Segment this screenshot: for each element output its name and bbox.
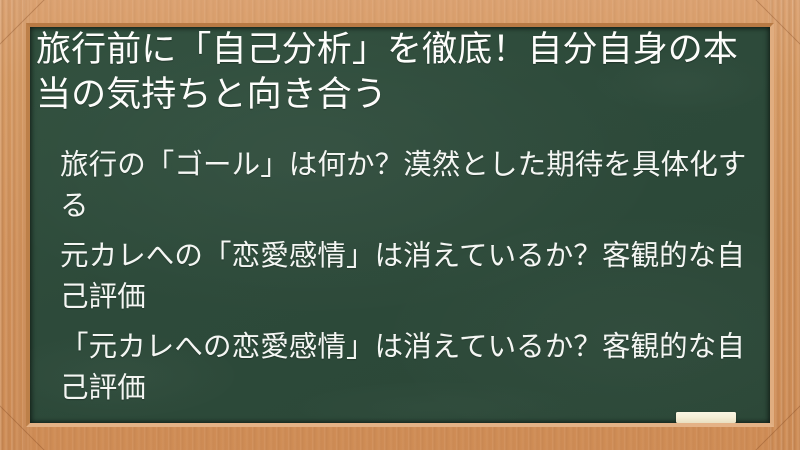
frame-rail-right: [770, 0, 800, 450]
slide-bullet-item-1: 旅行の「ゴール」は何か？漠然とした期待を具体化する: [60, 145, 766, 227]
wooden-frame: 旅行前に「自己分析」を徹底！自分自身の本当の気持ちと向き合う 旅行の「ゴール」は…: [0, 0, 800, 450]
chalkboard-content: 旅行前に「自己分析」を徹底！自分自身の本当の気持ちと向き合う 旅行の「ゴール」は…: [30, 27, 770, 423]
slide-bullet-list: 旅行の「ゴール」は何か？漠然とした期待を具体化する 元カレへの「恋愛感情」は消え…: [60, 145, 766, 409]
frame-rail-left: [0, 0, 30, 450]
slide-title: 旅行前に「自己分析」を徹底！自分自身の本当の気持ちと向き合う: [36, 27, 762, 117]
chalk-stick-icon: [676, 412, 736, 423]
slide-bullet-item-2: 元カレへの「恋愛感情」は消えているか？客観的な自己評価: [60, 236, 766, 318]
chalkboard: 旅行前に「自己分析」を徹底！自分自身の本当の気持ちと向き合う 旅行の「ゴール」は…: [30, 27, 770, 423]
slide-bullet-item-3: 「元カレへの恋愛感情」は消えているか？客観的な自己評価: [60, 327, 766, 409]
